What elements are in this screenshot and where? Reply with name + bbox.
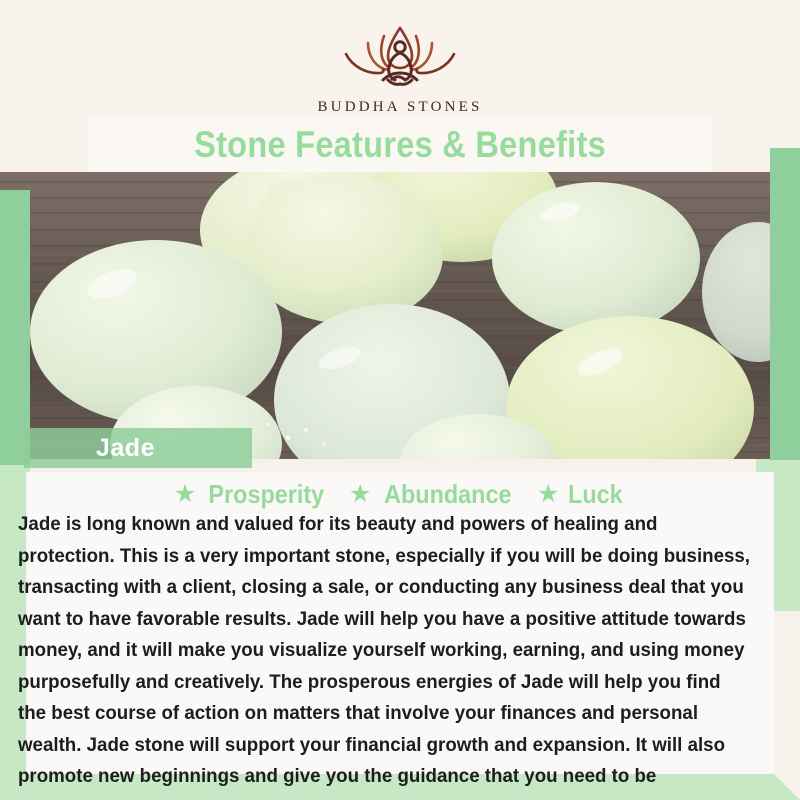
benefit-item: ★ Prosperity bbox=[174, 479, 331, 510]
page-title: Stone Features & Benefits bbox=[194, 124, 606, 166]
star-icon: ★ bbox=[349, 482, 371, 507]
brand-header: BUDDHA STONES bbox=[0, 0, 800, 118]
decorative-bar-left bbox=[0, 190, 30, 465]
star-icon: ★ bbox=[537, 482, 559, 507]
stone-photo bbox=[0, 172, 800, 459]
benefits-row: ★ Prosperity ★ Abundance ★ Luck bbox=[26, 477, 774, 511]
section-title-band: Stone Features & Benefits bbox=[88, 118, 712, 172]
stone-name: Jade bbox=[96, 434, 155, 463]
brand-name: BUDDHA STONES bbox=[317, 99, 482, 116]
decorative-bar-right bbox=[770, 148, 800, 460]
star-icon: ★ bbox=[174, 482, 196, 507]
benefit-item: ★ Abundance bbox=[349, 479, 519, 510]
lotus-meditation-icon bbox=[326, 22, 474, 95]
benefit-label: Prosperity bbox=[209, 479, 325, 510]
stone-name-band: Jade bbox=[24, 428, 252, 468]
stone-info-card: BUDDHA STONES Stone Features & Benefits bbox=[0, 0, 800, 800]
benefit-label: Luck bbox=[568, 479, 623, 510]
stone-description: Jade is long known and valued for its be… bbox=[18, 509, 753, 800]
benefit-label: Abundance bbox=[384, 479, 511, 510]
benefit-item: ★ Luck bbox=[537, 479, 626, 510]
